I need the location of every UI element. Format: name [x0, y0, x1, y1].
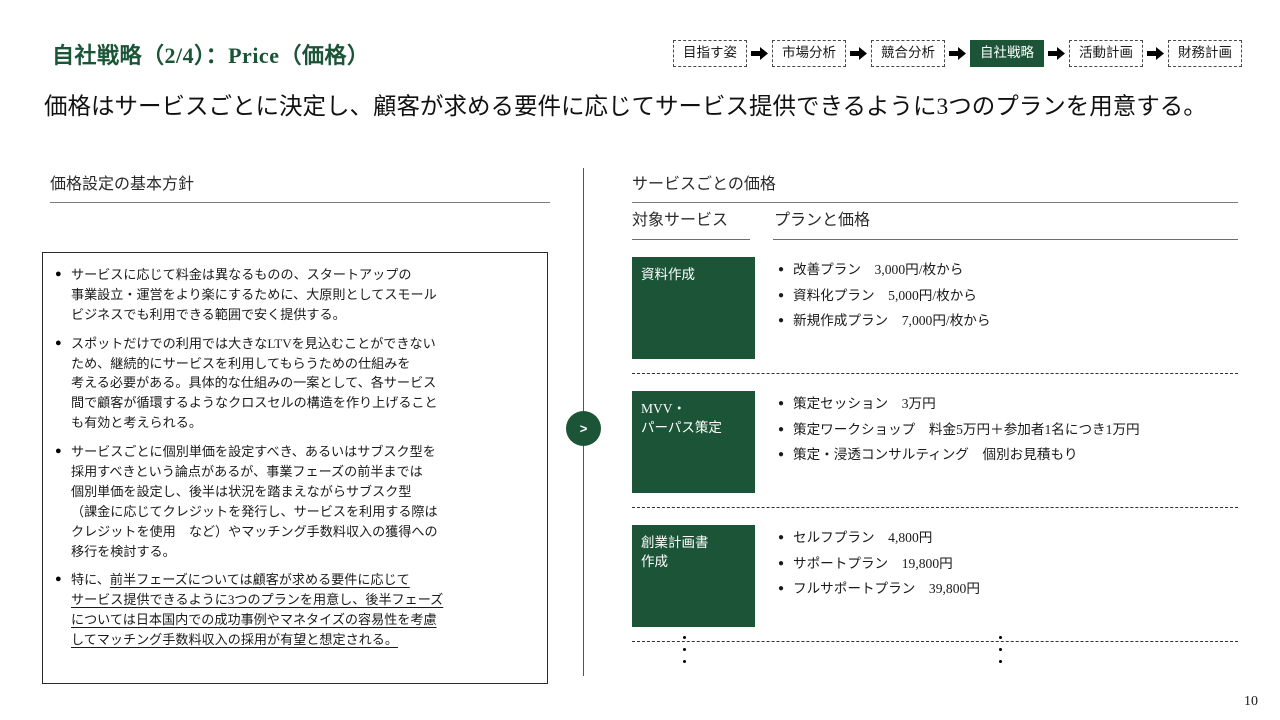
policy-bullet-text: サービスに応じて料金は異なるものの、スタートアップの事業設立・運営をより楽にする…: [71, 265, 533, 325]
plan-price-text: 策定ワークショップ 料金5万円＋参加者1名につき1万円: [793, 420, 1140, 440]
bullet-dot-icon: ●: [55, 442, 71, 561]
plan-price-text: 策定・浸透コンサルティング 個別お見積もり: [793, 445, 1078, 465]
left-heading-rule: [50, 202, 550, 203]
ellipsis-plans-column: [999, 636, 1002, 663]
policy-text-line: ビジネスでも利用できる範囲で安く提供する。: [71, 305, 533, 325]
plan-price-text: フルサポートプラン 39,800円: [793, 579, 980, 599]
bullet-dot-icon: ●: [778, 420, 793, 440]
left-section-label: 価格設定の基本方針: [50, 170, 550, 202]
policy-bullet-text: サービスごとに個別単価を設定すべき、あるいはサブスク型を採用すべきという論点があ…: [71, 442, 533, 561]
service-price-table: 対象サービス プランと価格 資料作成●改善プラン 3,000円/枚から●資料化プ…: [632, 206, 1238, 642]
bullet-dot-icon: ●: [778, 528, 793, 548]
plan-price-cell: ●改善プラン 3,000円/枚から●資料化プラン 5,000円/枚から●新規作成…: [755, 257, 1238, 359]
policy-text-line: 個別単価を設定し、後半は状況を踏まえながらサブスク型: [71, 482, 533, 502]
policy-text-line: サービスごとに個別単価を設定すべき、あるいはサブスク型を: [71, 442, 533, 462]
bullet-dot-icon: ●: [778, 579, 793, 599]
bullet-dot-icon: ●: [778, 286, 793, 306]
policy-text-line: も有効と考えられる。: [71, 413, 533, 433]
header-rule-service: [632, 239, 750, 240]
policy-text-line: サービスに応じて料金は異なるものの、スタートアップの: [71, 265, 533, 285]
policy-bullet-item: ●サービスごとに個別単価を設定すべき、あるいはサブスク型を採用すべきという論点が…: [55, 442, 533, 561]
breadcrumb-step-6[interactable]: 財務計画: [1168, 40, 1242, 67]
ellipsis-dot: [683, 648, 686, 651]
right-section-heading: サービスごとの価格: [632, 170, 1238, 203]
plan-price-line: ●新規作成プラン 7,000円/枚から: [778, 311, 1238, 331]
ellipsis-dot: [683, 636, 686, 639]
table-header-rules: [632, 239, 1238, 240]
policy-text-line: スポットだけでの利用では大きなLTVを見込むことができない: [71, 334, 533, 354]
plan-price-line: ●策定セッション 3万円: [778, 394, 1238, 414]
policy-text-line: ため、継続的にサービスを利用してもらうための仕組みを: [71, 354, 533, 374]
service-name-line: 資料作成: [641, 265, 746, 284]
bullet-dot-icon: ●: [778, 260, 793, 280]
plan-price-text: 資料化プラン 5,000円/枚から: [793, 286, 977, 306]
policy-text-line: 特に、前半フェーズについては顧客が求める要件に応じて: [71, 570, 533, 590]
policy-text-line: （課金に応じてクレジットを発行し、サービスを利用する際は: [71, 502, 533, 522]
policy-text-line: 間で顧客が循環するようなクロスセルの構造を作り上げること: [71, 393, 533, 413]
plan-price-line: ●セルフプラン 4,800円: [778, 528, 1238, 548]
slide-subtitle: 価格はサービスごとに決定し、顧客が求める要件に応じてサービス提供できるように3つ…: [44, 92, 1254, 123]
breadcrumb-step-2[interactable]: 市場分析: [772, 40, 846, 67]
breadcrumb-step-4[interactable]: 自社戦略: [970, 40, 1044, 67]
plan-price-line: ●改善プラン 3,000円/枚から: [778, 260, 1238, 280]
plan-price-line: ●フルサポートプラン 39,800円: [778, 579, 1238, 599]
bullet-dot-icon: ●: [55, 570, 71, 650]
right-section-label: サービスごとの価格: [632, 170, 1238, 202]
left-section-heading: 価格設定の基本方針: [50, 170, 550, 203]
table-body: 資料作成●改善プラン 3,000円/枚から●資料化プラン 5,000円/枚から●…: [632, 240, 1238, 642]
policy-bullet-item: ●サービスに応じて料金は異なるものの、スタートアップの事業設立・運営をより楽にす…: [55, 265, 533, 325]
breadcrumb-step-5[interactable]: 活動計画: [1069, 40, 1143, 67]
plan-price-cell: ●セルフプラン 4,800円●サポートプラン 19,800円●フルサポートプラン…: [755, 525, 1238, 627]
bullet-dot-icon: ●: [55, 334, 71, 433]
plan-price-cell: ●策定セッション 3万円●策定ワークショップ 料金5万円＋参加者1名につき1万円…: [755, 391, 1238, 493]
bullet-dot-icon: ●: [778, 311, 793, 331]
policy-bullet-item: ●スポットだけでの利用では大きなLTVを見込むことができないため、継続的にサービ…: [55, 334, 533, 433]
service-name-cell: MVV・パーパス策定: [632, 391, 755, 493]
bullet-dot-icon: ●: [778, 445, 793, 465]
page-title: 自社戦略（2/4）：Price（価格）: [52, 38, 369, 70]
service-name-cell: 資料作成: [632, 257, 755, 359]
policy-text-line: 考える必要がある。具体的な仕組みの一案として、各サービス: [71, 373, 533, 393]
column-header-service: 対象サービス: [632, 206, 760, 230]
ellipsis-dot: [999, 660, 1002, 663]
breadcrumb: 目指す姿市場分析競合分析自社戦略活動計画財務計画: [673, 40, 1242, 67]
service-name-cell: 創業計画書作成: [632, 525, 755, 627]
bullet-dot-icon: ●: [778, 394, 793, 414]
table-row: 創業計画書作成●セルフプラン 4,800円●サポートプラン 19,800円●フル…: [632, 508, 1238, 627]
arrow-right-icon: [1048, 47, 1065, 60]
breadcrumb-step-3[interactable]: 競合分析: [871, 40, 945, 67]
table-header-row: 対象サービス プランと価格: [632, 206, 1238, 239]
bullet-dot-icon: ●: [55, 265, 71, 325]
column-header-plans: プランと価格: [760, 206, 1238, 230]
policy-bullet-text: スポットだけでの利用では大きなLTVを見込むことができないため、継続的にサービス…: [71, 334, 533, 433]
service-name-line: パーパス策定: [641, 418, 746, 437]
plan-price-text: 策定セッション 3万円: [793, 394, 936, 414]
pricing-policy-box: ●サービスに応じて料金は異なるものの、スタートアップの事業設立・運営をより楽にす…: [42, 252, 548, 684]
bullet-dot-icon: ●: [778, 554, 793, 574]
service-name-line: 作成: [641, 552, 746, 571]
plan-price-text: セルフプラン 4,800円: [793, 528, 932, 548]
policy-text-line: については日本国内での成功事例やマネタイズの容易性を考慮: [71, 610, 533, 630]
policy-text-line: してマッチング手数料収入の採用が有望と想定される。: [71, 630, 533, 650]
plan-price-line: ●資料化プラン 5,000円/枚から: [778, 286, 1238, 306]
page-number: 10: [1244, 694, 1258, 710]
arrow-right-icon: [850, 47, 867, 60]
plan-price-text: 新規作成プラン 7,000円/枚から: [793, 311, 991, 331]
arrow-right-icon: [751, 47, 768, 60]
ellipsis-dot: [999, 648, 1002, 651]
right-heading-rule: [632, 202, 1238, 203]
plan-price-line: ●策定ワークショップ 料金5万円＋参加者1名につき1万円: [778, 420, 1238, 440]
policy-text-line: クレジットを使用 など）やマッチング手数料収入の獲得への: [71, 522, 533, 542]
policy-text-line: 採用すべきという論点があるが、事業フェーズの前半までは: [71, 462, 533, 482]
policy-text-line: 移行を検討する。: [71, 542, 533, 562]
arrow-right-icon: [1147, 47, 1164, 60]
plan-price-text: 改善プラン 3,000円/枚から: [793, 260, 963, 280]
policy-bullet-item: ●特に、前半フェーズについては顧客が求める要件に応じてサービス提供できるように3…: [55, 570, 533, 650]
policy-text-line: サービス提供できるように3つのプランを用意し、後半フェーズ: [71, 590, 533, 610]
service-name-line: MVV・: [641, 399, 746, 418]
header-rule-gap: [750, 239, 773, 240]
plan-price-line: ●サポートプラン 19,800円: [778, 554, 1238, 574]
service-name-line: 創業計画書: [641, 533, 746, 552]
policy-bullet-text: 特に、前半フェーズについては顧客が求める要件に応じてサービス提供できるように3つ…: [71, 570, 533, 650]
breadcrumb-step-1[interactable]: 目指す姿: [673, 40, 747, 67]
continuation-ellipsis: [632, 636, 1238, 663]
header-rule-plans: [773, 239, 1238, 240]
arrow-right-icon: [949, 47, 966, 60]
table-row: 資料作成●改善プラン 3,000円/枚から●資料化プラン 5,000円/枚から●…: [632, 240, 1238, 359]
chevron-right-icon[interactable]: >: [566, 411, 601, 446]
slide-canvas: 自社戦略（2/4）：Price（価格） 目指す姿市場分析競合分析自社戦略活動計画…: [0, 0, 1280, 720]
ellipsis-service-column: [683, 636, 686, 663]
table-row: MVV・パーパス策定●策定セッション 3万円●策定ワークショップ 料金5万円＋参…: [632, 374, 1238, 493]
plan-price-text: サポートプラン 19,800円: [793, 554, 953, 574]
policy-text-line: 事業設立・運営をより楽にするために、大原則としてスモール: [71, 285, 533, 305]
ellipsis-dot: [683, 660, 686, 663]
plan-price-line: ●策定・浸透コンサルティング 個別お見積もり: [778, 445, 1238, 465]
ellipsis-dot: [999, 636, 1002, 639]
